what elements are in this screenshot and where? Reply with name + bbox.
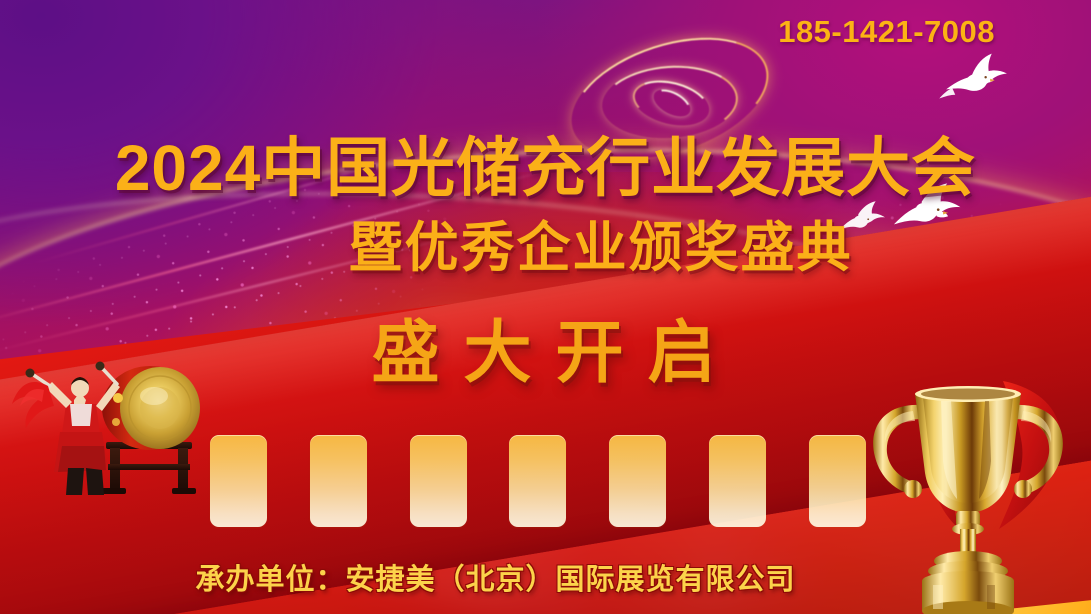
placeholder-card[interactable] [809, 435, 866, 527]
event-title-subtitle: 暨优秀企业颁奖盛典 [0, 203, 1091, 282]
placeholder-card[interactable] [210, 435, 267, 527]
placeholder-card[interactable] [509, 435, 566, 527]
event-title-main: 2024中国光储充行业发展大会 [0, 117, 1091, 209]
event-banner: 185-1421-7008 2024中国光储充行业发展大会 暨优秀企业颁奖盛典 … [0, 0, 1091, 614]
sponsor-placeholder-cards [210, 435, 866, 527]
placeholder-card[interactable] [709, 435, 766, 527]
placeholder-card[interactable] [310, 435, 367, 527]
dove-icon [937, 52, 1013, 104]
contact-phone-number: 185-1421-7008 [778, 14, 995, 50]
event-title-opening: 盛大开启 [0, 297, 1091, 396]
placeholder-card[interactable] [609, 435, 666, 527]
placeholder-card[interactable] [410, 435, 467, 527]
organizer-text: 承办单位：安捷美（北京）国际展览有限公司 [0, 556, 1091, 598]
